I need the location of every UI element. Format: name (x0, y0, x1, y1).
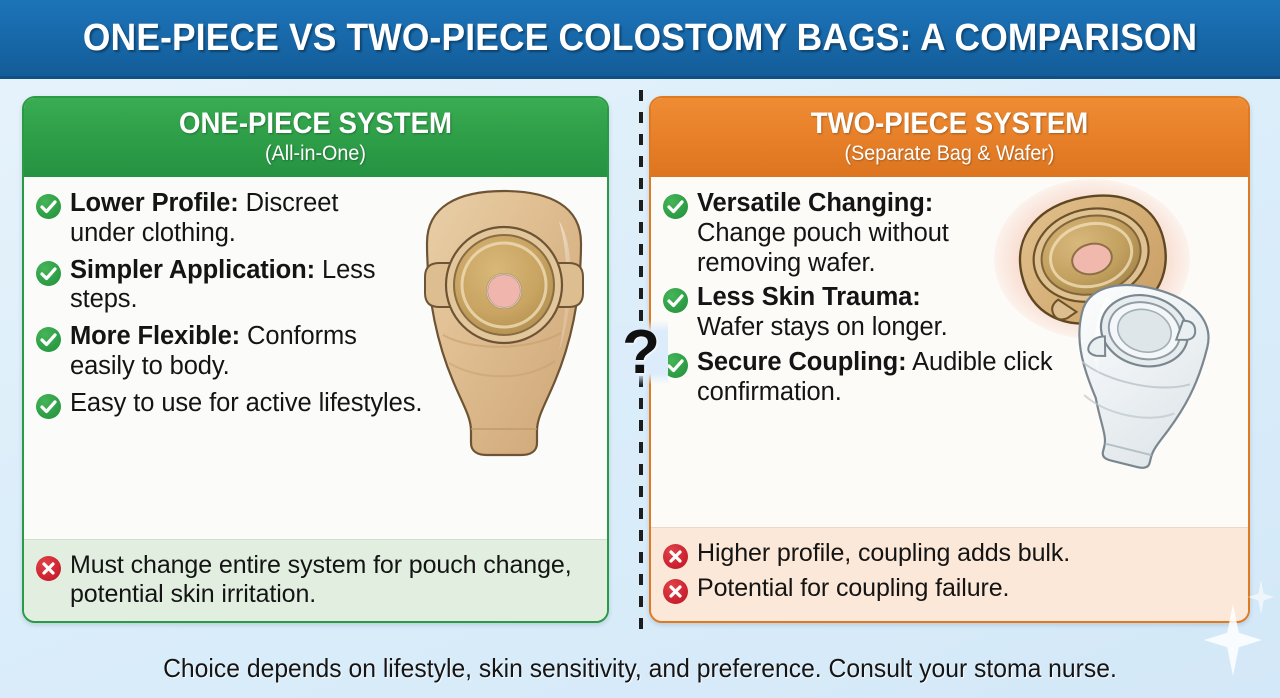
list-item-rest: Wafer stays on longer. (697, 313, 948, 341)
infographic-page: ONE-PIECE VS TWO-PIECE COLOSTOMY BAGS: A… (0, 0, 1280, 698)
list-item-bold: Versatile Changing: (697, 189, 933, 217)
list-item-text: Higher profile, coupling adds bulk. (697, 539, 1070, 568)
x-circle-icon (663, 579, 688, 604)
check-circle-icon (663, 288, 688, 313)
question-mark: ? (614, 320, 668, 385)
list-item-text: More Flexible: Conforms easily to body. (70, 322, 400, 382)
list-item-bold: Lower Profile: (70, 189, 239, 217)
list-item-text: Easy to use for active lifestyles. (70, 389, 422, 419)
one-piece-heading: ONE-PIECE SYSTEM (57, 107, 575, 141)
list-item-bold: Simpler Application: (70, 256, 315, 284)
list-item: Simpler Application: Less steps. (36, 256, 593, 316)
title-banner: ONE-PIECE VS TWO-PIECE COLOSTOMY BAGS: A… (0, 0, 1280, 79)
list-item-rest: Higher profile, coupling adds bulk. (697, 539, 1070, 567)
list-item-text: Less Skin Trauma: Wafer stays on longer. (697, 283, 987, 343)
page-title: ONE-PIECE VS TWO-PIECE COLOSTOMY BAGS: A… (83, 17, 1197, 60)
x-circle-icon (663, 544, 688, 569)
one-piece-header: ONE-PIECE SYSTEM (All-in-One) (24, 98, 607, 177)
one-piece-pros-section: Lower Profile: Discreet under clothing. … (24, 177, 607, 539)
list-item: Versatile Changing: Change pouch without… (663, 189, 1234, 278)
two-piece-heading: TWO-PIECE SYSTEM (684, 107, 1215, 141)
check-circle-icon (36, 261, 61, 286)
check-circle-icon (36, 327, 61, 352)
one-piece-column: ONE-PIECE SYSTEM (All-in-One) (0, 79, 631, 639)
list-item: Higher profile, coupling adds bulk. (663, 539, 1234, 569)
list-item: More Flexible: Conforms easily to body. (36, 322, 593, 382)
two-piece-pros-section: Versatile Changing: Change pouch without… (651, 177, 1248, 527)
list-item-text: Simpler Application: Less steps. (70, 256, 400, 316)
two-piece-column: TWO-PIECE SYSTEM (Separate Bag & Wafer) (631, 79, 1280, 639)
list-item-bold: Secure Coupling: (697, 348, 907, 376)
check-circle-icon (663, 194, 688, 219)
two-piece-panel: TWO-PIECE SYSTEM (Separate Bag & Wafer) (649, 96, 1250, 623)
check-circle-icon (36, 394, 61, 419)
list-item-bold: More Flexible: (70, 322, 240, 350)
two-piece-cons-section: Higher profile, coupling adds bulk. Pote… (651, 527, 1248, 621)
two-piece-header: TWO-PIECE SYSTEM (Separate Bag & Wafer) (651, 98, 1248, 177)
list-item-text: Must change entire system for pouch chan… (70, 551, 593, 610)
x-circle-icon (36, 556, 61, 581)
two-piece-subheading: (Separate Bag & Wafer) (678, 142, 1220, 166)
list-item: Less Skin Trauma: Wafer stays on longer. (663, 283, 1234, 343)
list-item-text: Lower Profile: Discreet under clothing. (70, 189, 400, 249)
list-item-rest: Easy to use for active lifestyles. (70, 389, 422, 417)
list-item-text: Versatile Changing: Change pouch without… (697, 189, 987, 278)
list-item-rest: Change pouch without removing wafer. (697, 219, 949, 277)
one-piece-panel: ONE-PIECE SYSTEM (All-in-One) (22, 96, 609, 623)
list-item: Potential for coupling failure. (663, 574, 1234, 604)
list-item: Secure Coupling: Audible click confirmat… (663, 348, 1234, 408)
list-item: Lower Profile: Discreet under clothing. (36, 189, 593, 249)
list-item: Must change entire system for pouch chan… (36, 551, 593, 610)
footer-bar: Choice depends on lifestyle, skin sensit… (0, 639, 1280, 698)
one-piece-subheading: (All-in-One) (51, 142, 580, 166)
check-circle-icon (36, 194, 61, 219)
list-item-rest: Potential for coupling failure. (697, 574, 1009, 602)
list-item-text: Secure Coupling: Audible click confirmat… (697, 348, 1057, 408)
list-item: Easy to use for active lifestyles. (36, 389, 593, 419)
footer-note: Choice depends on lifestyle, skin sensit… (163, 653, 1117, 684)
one-piece-cons-section: Must change entire system for pouch chan… (24, 539, 607, 622)
list-item-bold: Less Skin Trauma: (697, 283, 921, 311)
list-item-rest: Must change entire system for pouch chan… (70, 551, 572, 608)
list-item-text: Potential for coupling failure. (697, 574, 1009, 603)
